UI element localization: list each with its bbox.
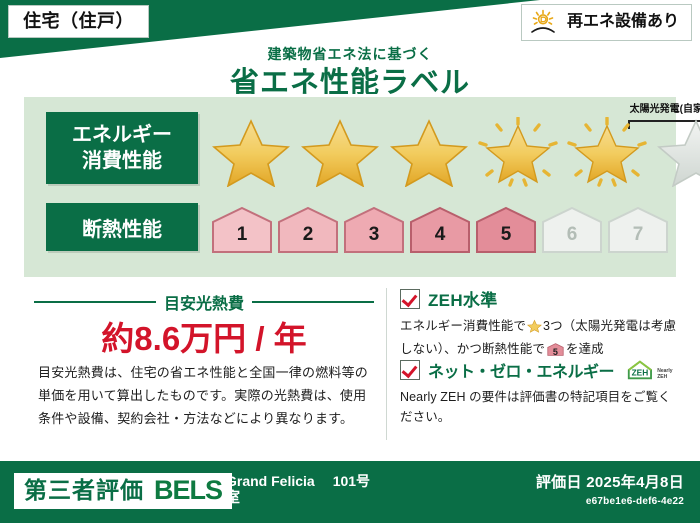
insulation-grade-4: 4 (408, 205, 472, 255)
zeh-standard-body-part3: を達成 (566, 342, 604, 356)
renewable-equipment-label: 再エネ設備あり (567, 14, 679, 30)
evaluation-date-value: 2025年4月8日 (586, 474, 684, 491)
footer-bar: 第三者評価 BELS Grand Felicia101号 室 評価日 2025年… (0, 461, 700, 523)
insulation-grade-1-value: 1 (210, 225, 274, 244)
renewable-equipment-badge: 再エネ設備あり (521, 4, 692, 41)
zeh-standard-body: エネルギー消費性能で3つ（太陽光発電は考慮しない）、かつ断熱性能で5を達成 (400, 316, 682, 359)
insulation-performance-label-box: 断熱性能 (46, 203, 198, 251)
building-identity: Grand Felicia101号 室 (226, 473, 526, 505)
insulation-grade-5: 5 (474, 205, 538, 255)
title-block: 建築物省エネ法に基づく 省エネ性能ラベル (0, 44, 700, 100)
svg-text:ZEH: ZEH (632, 368, 649, 378)
building-type-label: 住宅（住戸） (23, 11, 134, 31)
sun-rays-icon (530, 9, 560, 35)
heading-rule-left (34, 301, 156, 303)
evaluation-info: 評価日 2025年4月8日 e67be1e6-def6-4e22 (536, 471, 684, 507)
bels-logo-text: BELS (154, 477, 222, 504)
estimated-cost-heading: 目安光熱費 (34, 290, 374, 314)
zeh-standard-head: ZEH水準 (400, 286, 682, 311)
energy-performance-label: 住宅（住戸） 再エネ設備あり 建築物省エネ法 (0, 0, 700, 523)
insulation-grade-3: 3 (342, 205, 406, 255)
net-zero-energy-block: ネット・ゼロ・エネルギー ZEH Nearly ZEH Nearly ZEH の… (400, 358, 682, 427)
zeh-standard-body-part1: エネルギー消費性能で (400, 319, 526, 333)
insulation-grade-2: 2 (276, 205, 340, 255)
evaluation-id: e67be1e6-def6-4e22 (536, 496, 684, 507)
unit-number: 101号 (333, 473, 370, 489)
evaluation-date-label: 評価日 (536, 474, 582, 491)
star-4-solar (477, 117, 559, 187)
energy-performance-label-line2: 消費性能 (82, 148, 162, 174)
star-5-solar (566, 117, 648, 187)
energy-performance-label-line1: エネルギー (72, 122, 172, 148)
performance-panel: エネルギー 消費性能 断熱性能 太陽光発電(自家消費)分 (24, 97, 676, 277)
insulation-grade-5-value: 5 (474, 225, 538, 244)
zeh-standard-block: ZEH水準 エネルギー消費性能で3つ（太陽光発電は考慮しない）、かつ断熱性能で5… (400, 286, 682, 359)
bels-chip: 第三者評価 BELS (14, 473, 232, 509)
insulation-grade-7-value: 7 (606, 225, 670, 244)
insulation-grade-6-value: 6 (540, 225, 604, 244)
vertical-divider (386, 288, 387, 440)
star-6-empty (655, 117, 700, 187)
inline-house-icon: 5 (547, 342, 564, 357)
insulation-grade-7: 7 (606, 205, 670, 255)
estimated-cost-value: 約8.6万円 / 年 (34, 312, 374, 360)
estimated-cost-note: 目安光熱費は、住宅の省エネ性能と全国一律の燃料等の単価を用いて算出したものです。… (38, 362, 374, 430)
star-2-filled (299, 117, 381, 187)
insulation-performance-label-text: 断熱性能 (82, 213, 162, 242)
insulation-grade-row: 1 2 3 4 5 (210, 201, 668, 255)
building-type-chip: 住宅（住戸） (8, 5, 149, 38)
solar-bracket-label: 太陽光発電(自家消費)分 (604, 100, 700, 115)
net-zero-energy-body: Nearly ZEH の要件は評価書の特記項目をご覧ください。 (400, 387, 682, 427)
unit-suffix: 室 (226, 489, 526, 505)
estimated-cost-heading-text: 目安光熱費 (164, 290, 244, 314)
net-zero-energy-title: ネット・ゼロ・エネルギー (428, 358, 614, 382)
net-zero-energy-head: ネット・ゼロ・エネルギー ZEH Nearly ZEH (400, 358, 682, 382)
zeh-nearly-logo-icon: ZEH Nearly ZEH (626, 358, 682, 382)
zeh-standard-checkbox-icon (400, 289, 420, 309)
zeh-standard-star-count: 3つ (543, 319, 563, 333)
insulation-grade-2-value: 2 (276, 225, 340, 244)
title-subtitle: 建築物省エネ法に基づく (0, 44, 700, 64)
third-party-evaluation-label: 第三者評価 (24, 479, 144, 502)
star-rating-row: 太陽光発電(自家消費)分 (210, 117, 668, 187)
zeh-standard-title: ZEH水準 (428, 286, 498, 311)
energy-performance-label-box: エネルギー 消費性能 (46, 112, 198, 184)
insulation-grade-1: 1 (210, 205, 274, 255)
heading-rule-right (252, 301, 374, 303)
zeh-nearly-logo-sub: Nearly ZEH (657, 369, 682, 380)
star-1-filled (210, 117, 292, 187)
evaluation-date-line: 評価日 2025年4月8日 (536, 471, 684, 492)
insulation-grade-4-value: 4 (408, 225, 472, 244)
insulation-grade-6: 6 (540, 205, 604, 255)
star-3-filled (388, 117, 470, 187)
net-zero-energy-checkbox-icon (400, 360, 420, 380)
inline-star-icon (527, 319, 542, 339)
insulation-grade-3-value: 3 (342, 225, 406, 244)
building-name: Grand Felicia (226, 473, 315, 489)
main-card: エネルギー 消費性能 断熱性能 太陽光発電(自家消費)分 (12, 94, 688, 452)
